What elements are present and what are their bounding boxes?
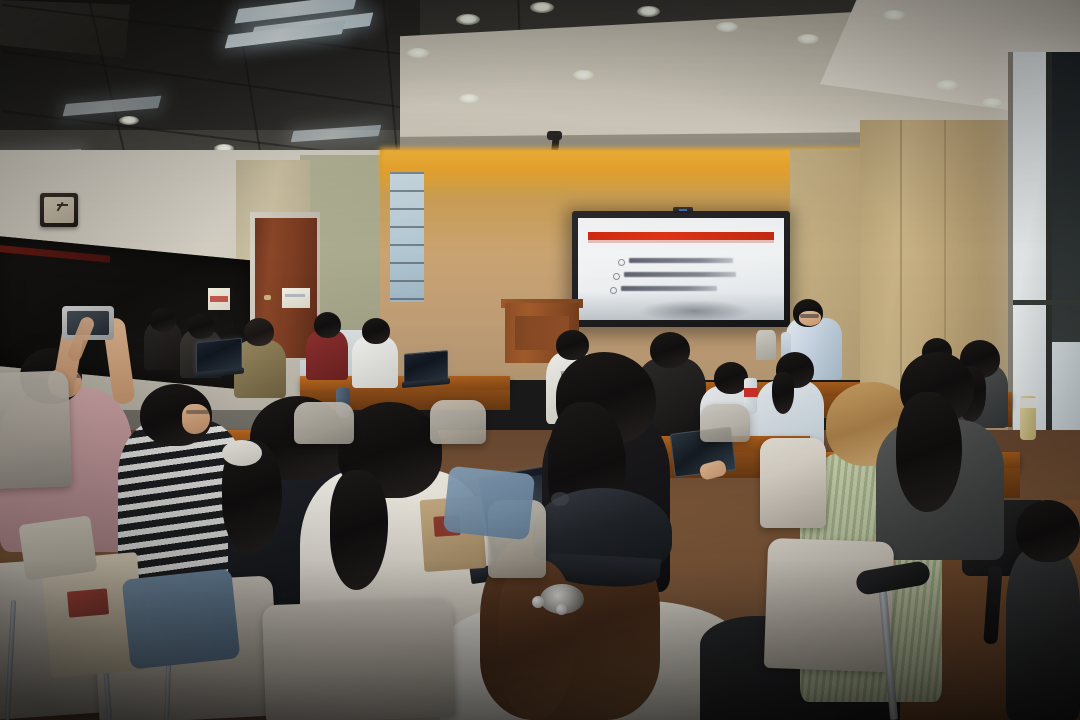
seminar-room-photo: R: [0, 0, 1080, 720]
recessed-downlight: [407, 48, 429, 58]
door-handle[interactable]: [264, 295, 271, 300]
slide-bullet-line: [621, 286, 717, 291]
chair-right-mid[interactable]: [764, 538, 894, 672]
cap-button: [551, 492, 569, 506]
presenter-glasses-icon: [800, 314, 819, 318]
slide-accent-bar: [588, 232, 774, 240]
chair-front-center[interactable]: [262, 599, 456, 720]
slide-bullet-line: [629, 258, 733, 263]
recessed-downlight: [530, 2, 554, 13]
hair-bead: [532, 596, 544, 608]
recessed-downlight: [883, 10, 905, 20]
camera-led-icon: [679, 209, 687, 211]
attendee-far-right-body: [756, 330, 776, 360]
right-edge-attendee-body: [1006, 548, 1080, 720]
chair-right-back[interactable]: [760, 438, 826, 528]
chair-left-upper[interactable]: [0, 370, 72, 489]
wall-sign-text-line: [285, 294, 305, 297]
slide-accent-bar-shadow: [588, 240, 774, 243]
recessed-downlight: [573, 70, 594, 80]
attendee-back-left-head: [150, 308, 176, 332]
attendee-blacktee-head: [650, 332, 690, 368]
attendee-maroon-head: [314, 312, 341, 338]
slide-bullet-line: [624, 272, 736, 277]
window-frame: [1046, 52, 1052, 452]
attendee-right-white-head: [714, 362, 748, 394]
recessed-downlight: [716, 22, 738, 32]
tote-bag-logo: [67, 588, 109, 617]
chair-mid-upper[interactable]: [430, 400, 486, 444]
slide-bullet-marker: [618, 259, 625, 266]
recessed-downlight: [936, 80, 958, 90]
window-left-bars: [390, 172, 424, 302]
chair-mid-upper2[interactable]: [294, 402, 354, 444]
hair-scrunchie-white: [222, 440, 262, 466]
right-edge-attendee-head: [1016, 500, 1080, 562]
bottle-cap: [1020, 398, 1036, 408]
window-right-dark-pane: [1052, 52, 1080, 342]
attendee-back-left2-head: [188, 314, 215, 339]
wall-sign-red-band: [210, 296, 228, 302]
recessed-downlight: [797, 34, 819, 44]
jacket-on-chair: [18, 515, 97, 580]
attendee-white-shirt-head: [362, 318, 390, 344]
hair-bead: [556, 604, 567, 615]
wall-sign-secondary: [282, 288, 310, 308]
recessed-downlight: [982, 98, 1002, 107]
recessed-downlight: [456, 14, 480, 25]
display-lower-shadow: [640, 300, 750, 322]
bottle-label: [744, 388, 757, 397]
attendee-olive-head: [244, 318, 274, 346]
denim-garment-2: [443, 466, 535, 541]
window-frame: [1012, 300, 1080, 305]
attendee-lightblue-hair: [772, 372, 794, 414]
chair-back-right[interactable]: [700, 404, 750, 442]
striped-attendee-glasses-icon: [186, 410, 210, 414]
clock-hand-minute: [57, 204, 68, 206]
denim-garment: [122, 568, 241, 669]
recessed-downlight: [459, 94, 479, 103]
recessed-downlight: [637, 6, 660, 17]
recessed-downlight: [119, 116, 139, 125]
slide-bullet-marker: [613, 273, 620, 280]
